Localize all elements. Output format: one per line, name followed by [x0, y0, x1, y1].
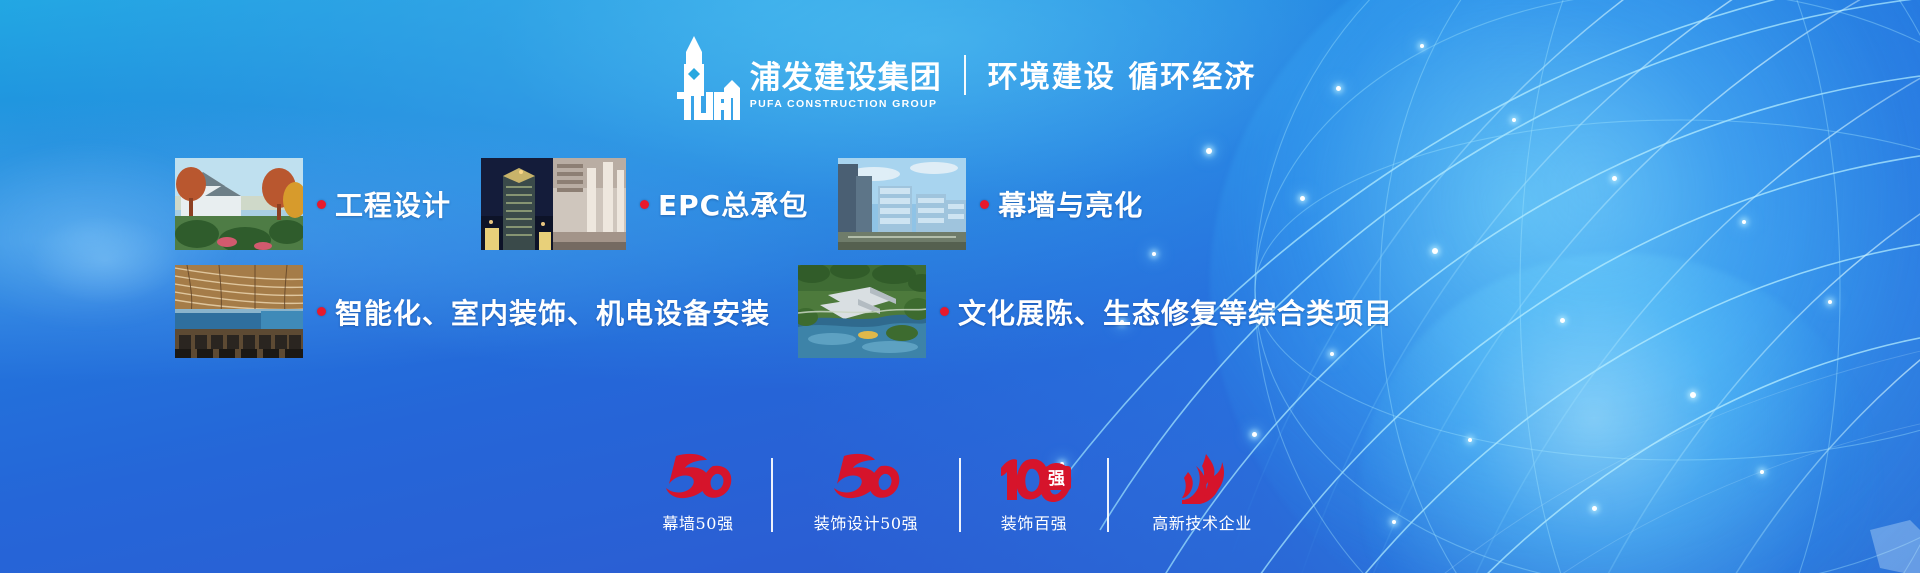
service-label: 文化展陈、生态修复等综合类项目 — [958, 292, 1393, 332]
award-item: 幕墙50强 — [637, 452, 759, 534]
service-label: 智能化、室内装饰、机电设备安装 — [335, 292, 770, 332]
services-row-2: 智能化、室内装饰、机电设备安装 — [175, 265, 1393, 358]
100-badge-icon: 强 — [995, 452, 1073, 506]
bullet-dot-icon — [317, 200, 326, 209]
services-row-1: 工程设计 — [175, 158, 1143, 250]
pufa-tower-logo-icon — [664, 34, 740, 120]
glass-office-complex-thumbnail — [838, 158, 966, 250]
award-caption: 幕墙50强 — [662, 510, 733, 534]
award-divider — [959, 458, 961, 532]
award-caption: 高新技术企业 — [1152, 510, 1252, 534]
award-divider — [771, 458, 773, 532]
brand-name-en: PUFA CONSTRUCTION GROUP — [750, 98, 942, 110]
brand-lockup: 浦发建设集团 PUFA CONSTRUCTION GROUP 环境建设 循环经济 — [0, 34, 1920, 120]
awards-row: 幕墙50强 装饰设计50强 — [0, 452, 1920, 534]
bullet-dot-icon — [940, 307, 949, 316]
service-label: 幕墙与亮化 — [998, 184, 1143, 224]
auditorium-interior-thumbnail — [175, 265, 303, 358]
landscape-residential-rendering-thumbnail — [175, 158, 303, 250]
flame-badge-icon — [1176, 452, 1228, 506]
service-item[interactable]: 文化展陈、生态修复等综合类项目 — [798, 265, 1393, 358]
brand-name-cn: 浦发建设集团 — [750, 62, 942, 95]
brand-slogan: 环境建设 循环经济 — [988, 52, 1256, 102]
service-label: 工程设计 — [335, 184, 451, 224]
brand-divider — [964, 55, 966, 95]
svg-text:强: 强 — [1048, 469, 1065, 489]
award-item: 强 装饰百强 — [973, 452, 1095, 534]
service-item[interactable]: 幕墙与亮化 — [838, 158, 1143, 250]
service-label: EPC总承包 — [658, 184, 808, 224]
bullet-dot-icon — [317, 307, 326, 316]
bullet-dot-icon — [640, 200, 649, 209]
award-item: 装饰设计50强 — [785, 452, 947, 534]
50-badge-icon — [663, 452, 733, 506]
service-item[interactable]: 工程设计 — [175, 158, 451, 250]
award-caption: 装饰设计50强 — [814, 510, 919, 534]
highrise-tower-and-atrium-thumbnail — [481, 158, 626, 250]
award-caption: 装饰百强 — [1001, 510, 1067, 534]
ecological-park-aerial-thumbnail — [798, 265, 926, 358]
bullet-dot-icon — [980, 200, 989, 209]
promo-banner: 浦发建设集团 PUFA CONSTRUCTION GROUP 环境建设 循环经济 — [0, 0, 1920, 573]
award-item: 高新技术企业 — [1121, 452, 1283, 534]
service-item[interactable]: 智能化、室内装饰、机电设备安装 — [175, 265, 770, 358]
award-divider — [1107, 458, 1109, 532]
service-item[interactable]: EPC总承包 — [481, 158, 808, 250]
50-badge-icon — [831, 452, 901, 506]
